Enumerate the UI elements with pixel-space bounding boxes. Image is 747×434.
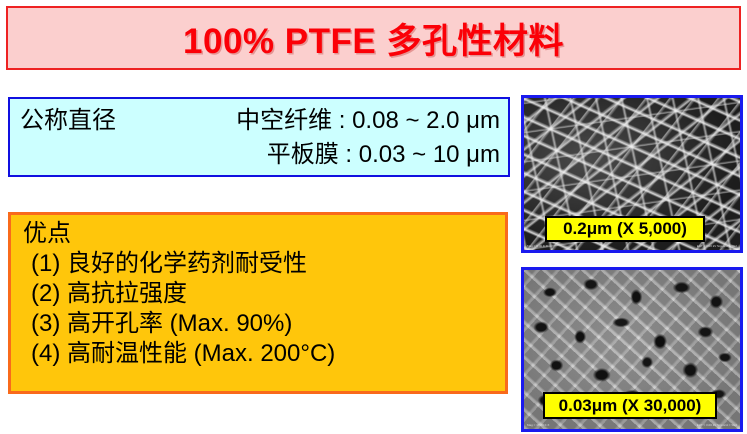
sem-microtext-left-bottom: Mag = 30.00 K X — [527, 423, 549, 427]
advantage-item-3: (3) 高开孔率 (Max. 90%) — [23, 309, 505, 339]
sem-panel-pore: Mag = 30.00 K X EHT = 3.00 kV Signal A =… — [521, 267, 743, 432]
sem-microtext-right-bottom: EHT = 3.00 kV Signal A = SE2 — [697, 423, 737, 427]
spec-label: 公称直径 — [20, 104, 155, 138]
nominal-diameter-box: 公称直径 中空纤维 : 0.08 ~ 2.0 μm 平板膜 : 0.03 ~ 1… — [8, 97, 510, 177]
spec-row-hollow-fiber: 公称直径 中空纤维 : 0.08 ~ 2.0 μm — [20, 104, 500, 138]
advantage-item-1: (1) 良好的化学药剂耐受性 — [23, 249, 505, 279]
advantage-item-4: (4) 高耐温性能 (Max. 200°C) — [23, 339, 505, 369]
sem-microtext-right-top: EHT = 3.00 kV Signal A = SE2 — [697, 244, 737, 248]
spec-value-wrap-flat-membrane: 平板膜 : 0.03 ~ 10 μm — [155, 138, 500, 172]
spec-value-hollow-fiber: 中空纤维 : 0.08 ~ 2.0 μm — [236, 104, 500, 138]
advantages-heading: 优点 — [23, 219, 505, 249]
advantages-box: 优点 (1) 良好的化学药剂耐受性 (2) 高抗拉强度 (3) 高开孔率 (Ma… — [8, 212, 508, 394]
sem-caption-pore: 0.03μm (X 30,000) — [543, 392, 717, 419]
spec-row-flat-membrane: 平板膜 : 0.03 ~ 10 μm — [20, 138, 500, 172]
sem-panel-fiber: Mag = 5.00 K X EHT = 3.00 kV Signal A = … — [521, 95, 743, 253]
sem-microtext-left-top: Mag = 5.00 K X — [527, 244, 548, 248]
sem-caption-fiber: 0.2μm (X 5,000) — [545, 216, 705, 242]
title-banner: 100% PTFE 多孔性材料 — [6, 6, 741, 70]
page-title: 100% PTFE 多孔性材料 — [183, 13, 564, 64]
spec-value-flat-membrane: 平板膜 : 0.03 ~ 10 μm — [267, 138, 500, 172]
advantage-item-2: (2) 高抗拉强度 — [23, 279, 505, 309]
spec-value-wrap-hollow-fiber: 中空纤维 : 0.08 ~ 2.0 μm — [155, 104, 500, 138]
